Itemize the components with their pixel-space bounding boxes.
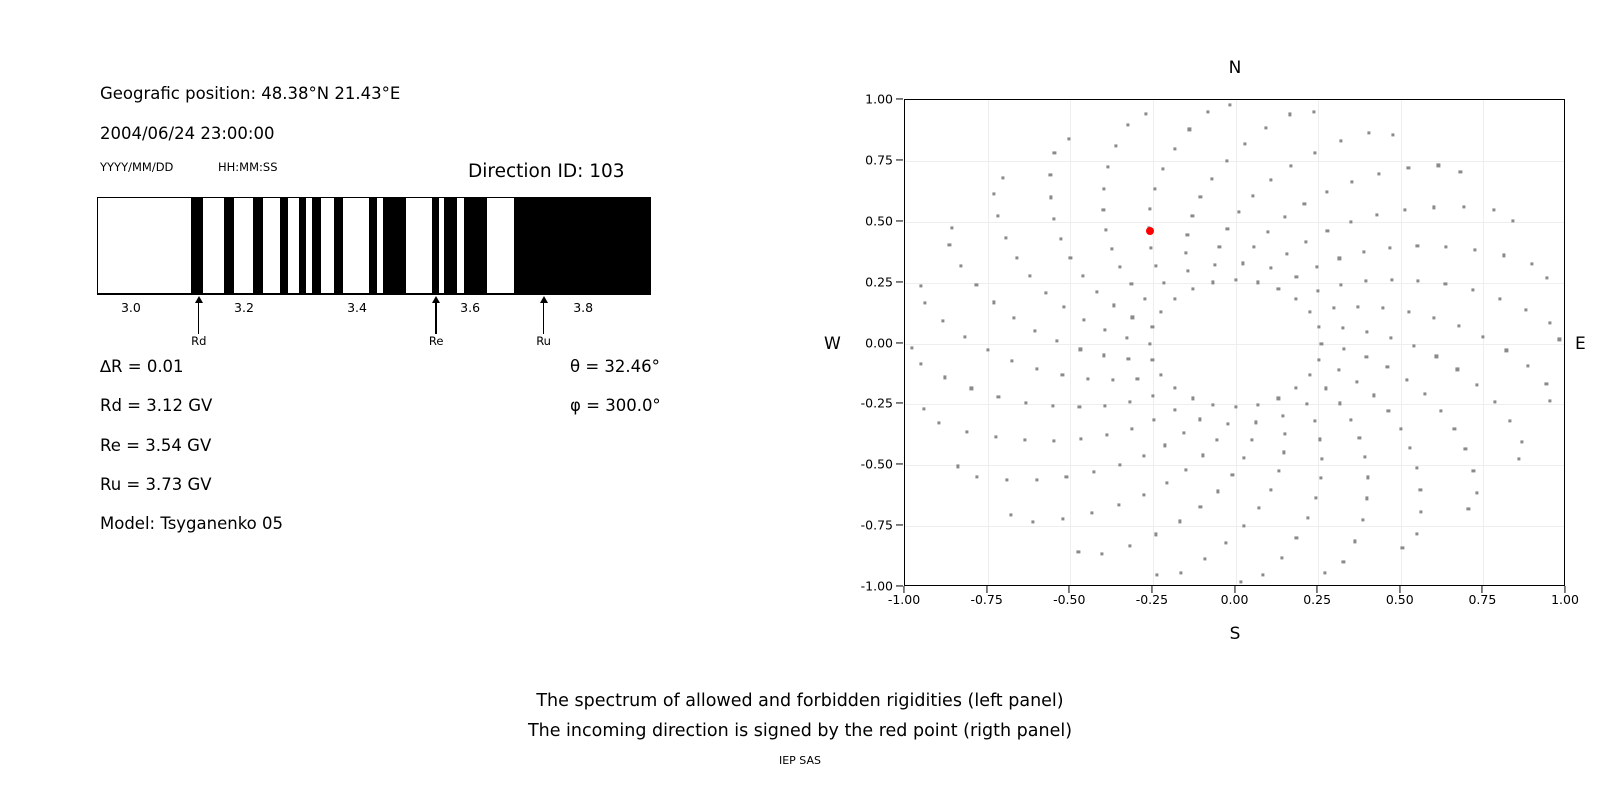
forbidden-band	[464, 198, 487, 293]
direction-id-label: Direction ID: 103	[468, 161, 625, 182]
direction-point	[1405, 378, 1408, 381]
direction-point	[1234, 405, 1237, 408]
direction-point	[1036, 478, 1039, 481]
direction-point	[1319, 477, 1322, 480]
direction-point	[1079, 437, 1082, 440]
direction-point	[1103, 187, 1106, 190]
direction-point	[1277, 469, 1280, 472]
direction-point	[1548, 400, 1551, 403]
direction-point	[1015, 256, 1018, 259]
direction-point	[951, 226, 954, 229]
direction-point	[1210, 177, 1213, 180]
direction-point	[1320, 342, 1323, 345]
direction-point	[1118, 265, 1121, 268]
direction-point	[1308, 374, 1311, 377]
direction-point	[970, 387, 973, 390]
forbidden-band	[444, 198, 457, 293]
compass-east-label: E	[1575, 334, 1586, 354]
direction-point	[1251, 194, 1254, 197]
direction-point	[1409, 446, 1412, 449]
direction-point	[1462, 206, 1465, 209]
direction-point	[1289, 113, 1292, 116]
direction-point	[1010, 359, 1013, 362]
direction-point	[1391, 133, 1394, 136]
y-tickmark	[896, 464, 903, 465]
direction-point	[959, 264, 962, 267]
direction-point	[1365, 330, 1368, 333]
direction-point	[1261, 574, 1264, 577]
direction-point	[1130, 282, 1133, 285]
direction-point	[1081, 274, 1084, 277]
direction-point	[1252, 245, 1255, 248]
x-tick-label: -0.75	[970, 592, 1002, 607]
direction-point	[1306, 517, 1309, 520]
direction-point	[1320, 457, 1323, 460]
direction-point	[1417, 279, 1420, 282]
direction-point	[1464, 448, 1467, 451]
direction-point	[1295, 536, 1298, 539]
direction-point	[1059, 238, 1062, 241]
direction-point	[1086, 377, 1089, 380]
direction-point	[941, 319, 944, 322]
direction-point	[1173, 297, 1176, 300]
direction-point	[1313, 151, 1316, 154]
direction-point	[1240, 580, 1243, 583]
direction-point	[1145, 113, 1148, 116]
direction-point	[1475, 383, 1478, 386]
direction-point	[1558, 338, 1561, 341]
direction-point	[1282, 414, 1285, 417]
direction-point	[1053, 151, 1056, 154]
geographic-position: Geografic position: 48.38°N 21.43°E	[100, 84, 400, 103]
y-tickmark	[896, 220, 903, 221]
direction-point	[1407, 167, 1410, 170]
direction-point	[1049, 196, 1052, 199]
direction-point	[1149, 207, 1152, 210]
direction-point	[1182, 432, 1185, 435]
direction-point	[1142, 493, 1145, 496]
direction-point	[1372, 394, 1375, 397]
figure-caption: The spectrum of allowed and forbidden ri…	[0, 686, 1600, 746]
direction-point	[1415, 466, 1418, 469]
direction-point	[1444, 283, 1447, 286]
direction-point	[1178, 520, 1181, 523]
direction-point	[1212, 281, 1215, 284]
direction-point	[1228, 103, 1231, 106]
direction-point	[997, 395, 1000, 398]
direction-point	[1128, 544, 1131, 547]
direction-point	[1326, 229, 1329, 232]
direction-point	[1156, 573, 1159, 576]
direction-point	[1035, 368, 1038, 371]
direction-point	[1125, 336, 1128, 339]
direction-point	[1407, 310, 1410, 313]
direction-point	[1362, 251, 1365, 254]
direction-point	[1226, 422, 1229, 425]
direction-point	[1325, 191, 1328, 194]
direction-point	[1012, 316, 1015, 319]
direction-point	[1492, 209, 1495, 212]
direction-point	[1378, 173, 1381, 176]
rigidity-tick-label: 3.8	[573, 300, 593, 315]
direction-point	[1349, 418, 1352, 421]
y-tickmark	[896, 159, 903, 160]
compass-west-label: W	[824, 334, 841, 354]
y-tick-label: -1.00	[861, 579, 893, 594]
direction-point	[1375, 213, 1378, 216]
forbidden-band	[191, 198, 202, 293]
direction-point	[1101, 553, 1104, 556]
direction-point	[1343, 348, 1346, 351]
direction-point	[1366, 476, 1369, 479]
direction-point	[986, 348, 989, 351]
direction-point	[1024, 439, 1027, 442]
direction-point	[1315, 265, 1318, 268]
direction-point	[1367, 131, 1370, 134]
direction-point	[1104, 404, 1107, 407]
direction-point	[1234, 279, 1237, 282]
direction-point	[1456, 368, 1459, 371]
direction-map-panel: N S W E -1.00-0.75-0.50-0.250.000.250.50…	[800, 0, 1600, 660]
direction-point	[1520, 440, 1523, 443]
direction-point	[1055, 340, 1058, 343]
direction-point	[1526, 365, 1529, 368]
direction-point	[1102, 208, 1105, 211]
direction-point	[1092, 471, 1095, 474]
direction-point	[1364, 280, 1367, 283]
direction-point	[1130, 427, 1133, 430]
direction-point	[1265, 126, 1268, 129]
direction-point	[1473, 248, 1476, 251]
direction-point	[1242, 262, 1245, 265]
x-tick-label: -0.50	[1053, 592, 1085, 607]
direction-point	[1338, 257, 1341, 260]
forbidden-band	[253, 198, 263, 293]
caption-line-2: The incoming direction is signed by the …	[0, 716, 1600, 746]
direction-point	[1317, 326, 1320, 329]
direction-point	[919, 362, 922, 365]
direction-point	[1356, 380, 1359, 383]
direction-point	[1112, 304, 1115, 307]
direction-point	[956, 465, 959, 468]
direction-point	[1136, 377, 1139, 380]
direction-point	[1282, 451, 1285, 454]
direction-point	[1290, 164, 1293, 167]
direction-point	[1350, 181, 1353, 184]
direction-point	[1005, 478, 1008, 481]
direction-point	[1339, 140, 1342, 143]
direction-point	[1096, 290, 1099, 293]
direction-point	[1151, 358, 1154, 361]
direction-point	[1159, 310, 1162, 313]
forbidden-band	[383, 198, 405, 293]
direction-point	[1419, 488, 1422, 491]
direction-point	[943, 376, 946, 379]
direction-point	[1444, 245, 1447, 248]
direction-point	[1104, 228, 1107, 231]
direction-point	[1356, 305, 1359, 308]
direction-point	[1218, 245, 1221, 248]
y-tick-label: 0.50	[865, 213, 893, 228]
direction-point	[1338, 402, 1341, 405]
rigidity-tick-label: 3.4	[347, 300, 367, 315]
direction-point	[1153, 419, 1156, 422]
direction-point	[1224, 541, 1227, 544]
direction-point	[910, 346, 913, 349]
direction-point	[975, 284, 978, 287]
direction-point	[1185, 468, 1188, 471]
direction-point	[1505, 349, 1508, 352]
direction-point	[1482, 336, 1485, 339]
direction-point	[1225, 159, 1228, 162]
direction-point	[1412, 344, 1415, 347]
y-tick-label: 0.25	[865, 274, 893, 289]
direction-point	[992, 301, 995, 304]
direction-point	[1319, 438, 1322, 441]
direction-point	[1106, 433, 1109, 436]
y-tickmark	[896, 98, 903, 99]
direction-point	[1118, 464, 1121, 467]
direction-point	[1065, 475, 1068, 478]
direction-point	[1363, 456, 1366, 459]
marker-label: Re	[429, 334, 444, 348]
direction-point	[1255, 421, 1258, 424]
direction-point	[1004, 236, 1007, 239]
direction-point	[992, 192, 995, 195]
direction-point	[1388, 246, 1391, 249]
observation-datetime: 2004/06/24 23:00:00	[100, 124, 274, 143]
forbidden-band	[312, 198, 320, 293]
direction-point	[1358, 436, 1361, 439]
direction-point	[1173, 147, 1176, 150]
direction-point	[1399, 427, 1402, 430]
direction-point	[1090, 511, 1093, 514]
direction-point	[1423, 393, 1426, 396]
direction-point	[1459, 170, 1462, 173]
direction-point	[1256, 281, 1259, 284]
direction-point	[1173, 387, 1176, 390]
direction-point	[1191, 214, 1194, 217]
direction-point	[1191, 397, 1194, 400]
param-theta: θ = 32.46°	[570, 357, 660, 376]
direction-point	[1277, 397, 1280, 400]
direction-point	[1186, 233, 1189, 236]
rigidity-tick-label: 3.6	[460, 300, 480, 315]
y-tickmark	[896, 342, 903, 343]
forbidden-band	[369, 198, 377, 293]
marker-shaft	[543, 298, 544, 334]
direction-point	[1324, 387, 1327, 390]
direction-point	[1401, 546, 1404, 549]
direction-point	[1237, 210, 1240, 213]
direction-point	[1173, 409, 1176, 412]
direction-point	[1151, 326, 1154, 329]
x-tick-label: 0.75	[1468, 592, 1496, 607]
y-tickmark	[896, 281, 903, 282]
direction-point	[1269, 266, 1272, 269]
direction-point	[1148, 342, 1151, 345]
direction-point	[1143, 297, 1146, 300]
direction-point	[1303, 202, 1306, 205]
direction-point	[1103, 354, 1106, 357]
direction-point	[1153, 187, 1156, 190]
direction-point	[1061, 374, 1064, 377]
direction-point	[1269, 178, 1272, 181]
direction-point	[1439, 409, 1442, 412]
direction-point	[1386, 366, 1389, 369]
direction-point	[920, 284, 923, 287]
direction-point	[1024, 401, 1027, 404]
direction-point	[1149, 246, 1152, 249]
direction-point	[1107, 166, 1110, 169]
direction-point	[1212, 403, 1215, 406]
footer-credit: IEP SAS	[0, 754, 1600, 767]
direction-point	[1467, 508, 1470, 511]
direction-point	[1202, 454, 1205, 457]
direction-point	[1191, 287, 1194, 290]
direction-point	[1033, 329, 1036, 332]
direction-point	[1049, 173, 1052, 176]
direction-point	[1155, 533, 1158, 536]
x-tick-label: -1.00	[888, 592, 920, 607]
direction-point	[1283, 216, 1286, 219]
direction-point	[1198, 418, 1201, 421]
direction-point	[1365, 497, 1368, 500]
scatter-layer	[905, 100, 1564, 585]
direction-point	[1266, 230, 1269, 233]
direction-point	[1029, 275, 1032, 278]
direction-point	[1339, 283, 1342, 286]
forbidden-band	[224, 198, 234, 293]
direction-point	[1069, 257, 1072, 260]
y-tick-label: 1.00	[865, 92, 893, 107]
direction-point	[1257, 507, 1260, 510]
direction-point	[1184, 252, 1187, 255]
direction-point	[1269, 488, 1272, 491]
forbidden-band	[432, 198, 439, 293]
y-tick-label: -0.25	[861, 396, 893, 411]
direction-point	[1243, 142, 1246, 145]
direction-point	[1142, 455, 1145, 458]
direction-point	[1203, 557, 1206, 560]
marker-shaft	[198, 298, 199, 334]
param-model: Model: Tsyganenko 05	[100, 514, 283, 533]
date-format-hint: YYYY/MM/DD	[100, 160, 173, 174]
direction-point	[1509, 420, 1512, 423]
rigidity-spectrum-bar	[97, 197, 651, 294]
direction-point	[1077, 551, 1080, 554]
direction-point	[1131, 316, 1134, 319]
direction-point	[1031, 520, 1034, 523]
marker-label: Ru	[536, 334, 551, 348]
direction-point	[1308, 310, 1311, 313]
rigidity-spectrum-panel: Geografic position: 48.38°N 21.43°E 2004…	[0, 0, 800, 660]
direction-point	[937, 421, 940, 424]
direction-point	[1078, 406, 1081, 409]
direction-point	[1206, 110, 1209, 113]
direction-point	[1052, 439, 1055, 442]
direction-point	[1159, 374, 1162, 377]
direction-point	[1216, 438, 1219, 441]
param-rd: Rd = 3.12 GV	[100, 396, 212, 415]
direction-point	[1498, 297, 1501, 300]
direction-point	[1051, 405, 1054, 408]
param-re: Re = 3.54 GV	[100, 436, 211, 455]
direction-point	[1277, 287, 1280, 290]
direction-point	[1044, 291, 1047, 294]
direction-point	[1079, 348, 1082, 351]
direction-point	[1250, 439, 1253, 442]
direction-point	[1517, 458, 1520, 461]
param-phi: φ = 300.0°	[570, 396, 661, 415]
direction-point	[1342, 560, 1345, 563]
direction-point	[1162, 281, 1165, 284]
direction-point	[1165, 481, 1168, 484]
direction-point	[1126, 123, 1129, 126]
direction-point	[995, 436, 998, 439]
direction-point	[1111, 378, 1114, 381]
direction-point	[1188, 128, 1191, 131]
direction-point	[1503, 254, 1506, 257]
direction-point	[1243, 524, 1246, 527]
direction-point	[1213, 263, 1216, 266]
compass-south-label: S	[1230, 624, 1241, 644]
compass-north-label: N	[1229, 58, 1242, 78]
direction-point	[1226, 228, 1229, 231]
direction-point	[1403, 208, 1406, 211]
direction-point	[1545, 382, 1548, 385]
y-tickmark	[896, 525, 903, 526]
direction-point	[1337, 368, 1340, 371]
direction-point	[1295, 275, 1298, 278]
direction-point	[1432, 206, 1435, 209]
axis-line	[97, 294, 651, 295]
direction-point	[1312, 110, 1315, 113]
direction-point	[1332, 307, 1335, 310]
direction-point	[1316, 289, 1319, 292]
direction-point	[996, 215, 999, 218]
direction-point	[1530, 262, 1533, 265]
direction-point	[1389, 336, 1392, 339]
direction-point	[1341, 327, 1344, 330]
rigidity-axis: 3.03.23.43.63.8RdReRu	[97, 294, 651, 354]
direction-point	[1390, 278, 1393, 281]
direction-point	[1524, 308, 1527, 311]
param-ru: Ru = 3.73 GV	[100, 475, 212, 494]
y-tickmark	[896, 403, 903, 404]
direction-point	[1179, 571, 1182, 574]
direction-point	[1242, 456, 1245, 459]
direction-point	[1432, 316, 1435, 319]
y-tick-label: 0.00	[865, 335, 893, 350]
y-tick-label: -0.75	[861, 518, 893, 533]
direction-point	[1323, 571, 1326, 574]
incoming-direction-point[interactable]	[1146, 227, 1154, 235]
direction-point	[1053, 217, 1056, 220]
direction-point	[1009, 514, 1012, 517]
direction-point	[1361, 518, 1364, 521]
marker-shaft	[435, 298, 436, 334]
direction-point	[1061, 517, 1064, 520]
time-format-hint: HH:MM:SS	[218, 160, 278, 174]
direction-point	[1317, 358, 1320, 361]
direction-point	[1163, 444, 1166, 447]
x-tick-label: 1.00	[1551, 592, 1579, 607]
direction-point	[1103, 328, 1106, 331]
direction-plot-frame	[904, 99, 1565, 586]
direction-point	[1512, 219, 1515, 222]
direction-point	[1283, 432, 1286, 435]
